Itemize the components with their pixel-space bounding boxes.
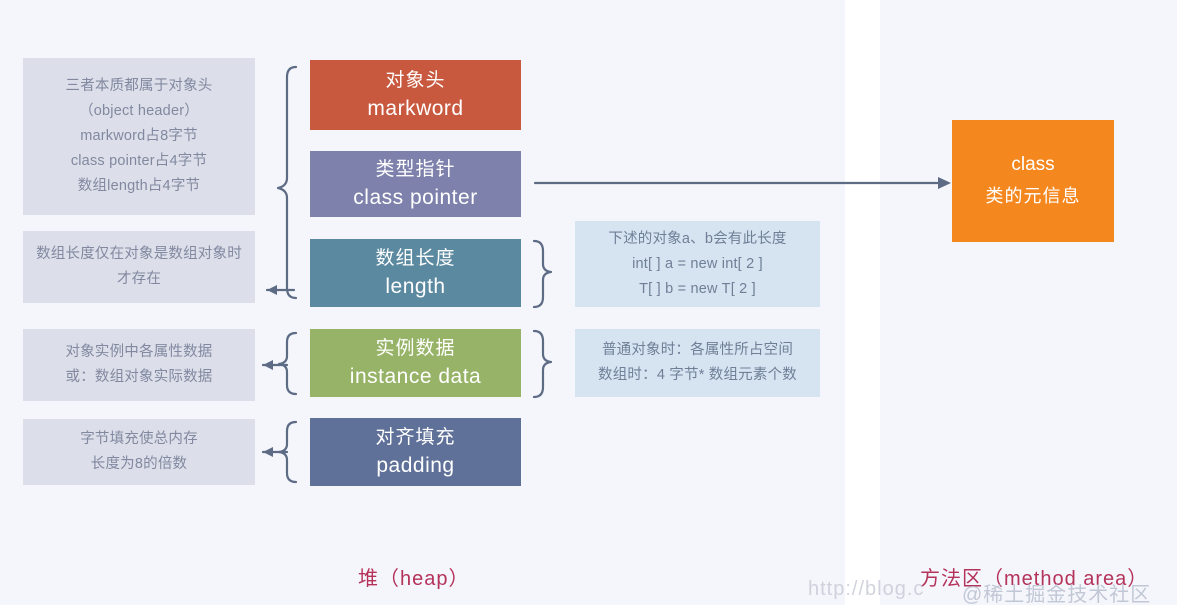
note-line: 对象实例中各属性数据 bbox=[66, 340, 213, 365]
note-line: 数组长度仅在对象是数组对象时 bbox=[36, 242, 242, 267]
note-line: 才存在 bbox=[117, 267, 161, 292]
method-area-region-pane bbox=[880, 0, 1177, 605]
block-label-en: padding bbox=[376, 451, 454, 480]
memory-block-padding: 对齐填充 padding bbox=[310, 418, 521, 486]
padding-note: 字节填充使总内存 长度为8的倍数 bbox=[23, 419, 255, 485]
diagram-canvas: 三者本质都属于对象头 （object header） markword占8字节 … bbox=[0, 0, 1177, 605]
note-line: 字节填充使总内存 bbox=[80, 427, 198, 452]
block-label-en: markword bbox=[367, 94, 463, 123]
note-line: （object header） bbox=[79, 99, 199, 124]
note-line: class pointer占4字节 bbox=[71, 149, 207, 174]
note-line: int[ ] a = new int[ 2 ] bbox=[632, 252, 763, 277]
memory-block-length: 数组长度 length bbox=[310, 239, 521, 307]
note-line: 或：数组对象实际数据 bbox=[66, 365, 213, 390]
watermark-handle: @稀土掘金技术社区 bbox=[962, 578, 1151, 607]
watermark-url: http://blog.c bbox=[808, 578, 924, 601]
note-line: 下述的对象a、b会有此长度 bbox=[608, 227, 786, 252]
class-metadata-box: class 类的元信息 bbox=[952, 120, 1114, 242]
memory-block-instance-data: 实例数据 instance data bbox=[310, 329, 521, 397]
memory-block-class-pointer: 类型指针 class pointer bbox=[310, 151, 521, 217]
block-label-cn: 类型指针 bbox=[375, 156, 455, 183]
instance-size-note: 普通对象时：各属性所占空间 数组时：4 字节* 数组元素个数 bbox=[575, 329, 820, 397]
block-label-cn: 对齐填充 bbox=[375, 424, 455, 451]
object-header-note: 三者本质都属于对象头 （object header） markword占8字节 … bbox=[23, 58, 255, 215]
array-length-note: 数组长度仅在对象是数组对象时 才存在 bbox=[23, 231, 255, 303]
block-label-en: length bbox=[385, 272, 445, 301]
note-line: 普通对象时：各属性所占空间 bbox=[602, 338, 793, 363]
block-label-cn: 对象头 bbox=[385, 67, 445, 94]
region-divider bbox=[845, 0, 880, 605]
note-line: 三者本质都属于对象头 bbox=[66, 74, 213, 99]
array-example-note: 下述的对象a、b会有此长度 int[ ] a = new int[ 2 ] T[… bbox=[575, 221, 820, 307]
note-line: markword占8字节 bbox=[80, 124, 198, 149]
note-line: 长度为8的倍数 bbox=[91, 452, 187, 477]
class-box-label-en: class bbox=[1011, 150, 1054, 180]
instance-data-note: 对象实例中各属性数据 或：数组对象实际数据 bbox=[23, 329, 255, 401]
memory-block-markword: 对象头 markword bbox=[310, 60, 521, 130]
note-line: 数组时：4 字节* 数组元素个数 bbox=[598, 363, 797, 388]
block-label-en: instance data bbox=[350, 362, 481, 391]
heap-caption: 堆（heap） bbox=[358, 562, 470, 591]
note-line: 数组length占4字节 bbox=[78, 174, 200, 199]
block-label-cn: 实例数据 bbox=[375, 335, 455, 362]
class-box-label-cn: 类的元信息 bbox=[986, 180, 1081, 212]
note-line: T[ ] b = new T[ 2 ] bbox=[639, 277, 756, 302]
block-label-cn: 数组长度 bbox=[375, 245, 455, 272]
block-label-en: class pointer bbox=[353, 183, 477, 212]
